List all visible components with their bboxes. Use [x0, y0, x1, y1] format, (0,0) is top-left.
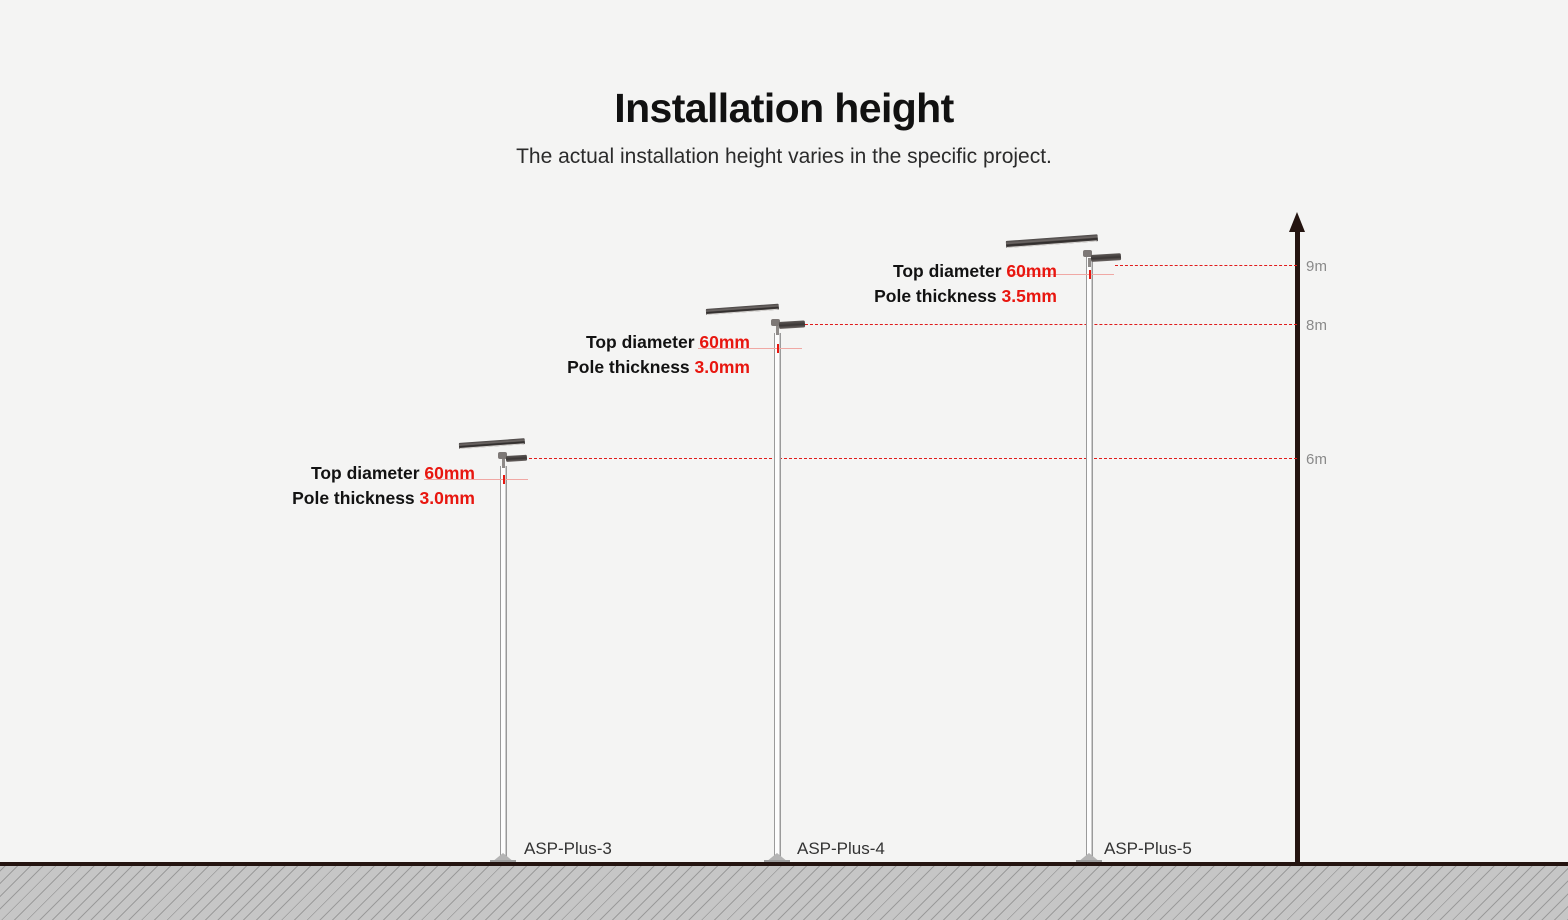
lamp-bracket [1088, 258, 1091, 267]
pole-thickness-value: 3.0mm [420, 488, 475, 508]
model-label-asp-plus-4: ASP-Plus-4 [797, 839, 885, 859]
dashed-height-line-6m [524, 458, 1297, 459]
callout-leader-tick [1089, 270, 1091, 279]
axis-tick-9m: 9m [1306, 258, 1327, 275]
top-diameter-row: Top diameter 60mm [762, 259, 1057, 284]
pole-thickness-row: Pole thickness 3.0mm [455, 355, 750, 380]
top-diameter-value: 60mm [1006, 261, 1057, 281]
lamp-bracket [502, 459, 505, 468]
model-label-asp-plus-3: ASP-Plus-3 [524, 839, 612, 859]
top-diameter-row: Top diameter 60mm [455, 330, 750, 355]
pole-thickness-row: Pole thickness 3.0mm [180, 486, 475, 511]
top-diameter-row: Top diameter 60mm [180, 461, 475, 486]
pole-thickness-label: Pole thickness [874, 286, 997, 306]
top-diameter-value: 60mm [699, 332, 750, 352]
callout-leader-tick [777, 344, 779, 353]
pole-thickness-value: 3.0mm [695, 357, 750, 377]
pole-specs-callout: Top diameter 60mm Pole thickness 3.0mm [180, 461, 475, 511]
lamp-bracket [776, 326, 779, 335]
pole-thickness-row: Pole thickness 3.5mm [762, 284, 1057, 309]
pole-thickness-label: Pole thickness [292, 488, 415, 508]
page-title: Installation height [0, 86, 1568, 131]
pole-specs-callout: Top diameter 60mm Pole thickness 3.5mm [762, 259, 1057, 309]
dashed-height-line-8m [805, 324, 1297, 325]
installation-height-diagram: Installation height The actual installat… [0, 0, 1568, 920]
pole-shaft [1086, 255, 1093, 862]
top-diameter-label: Top diameter [586, 332, 695, 352]
callout-leader-tick [503, 475, 505, 484]
pole-specs-callout: Top diameter 60mm Pole thickness 3.0mm [455, 330, 750, 380]
top-diameter-label: Top diameter [311, 463, 420, 483]
axis-tick-8m: 8m [1306, 317, 1327, 334]
top-diameter-label: Top diameter [893, 261, 1002, 281]
luminaire [1091, 253, 1121, 262]
pole-shaft [500, 466, 507, 862]
page-subtitle: The actual installation height varies in… [0, 144, 1568, 169]
luminaire [779, 320, 805, 328]
top-diameter-value: 60mm [424, 463, 475, 483]
axis-tick-6m: 6m [1306, 451, 1327, 468]
model-label-asp-plus-5: ASP-Plus-5 [1104, 839, 1192, 859]
luminaire [506, 455, 527, 462]
pole-thickness-label: Pole thickness [567, 357, 690, 377]
pole-thickness-value: 3.5mm [1002, 286, 1057, 306]
ground-hatch [0, 862, 1568, 920]
dashed-height-line-9m [1115, 265, 1297, 266]
pole-shaft [774, 333, 781, 862]
